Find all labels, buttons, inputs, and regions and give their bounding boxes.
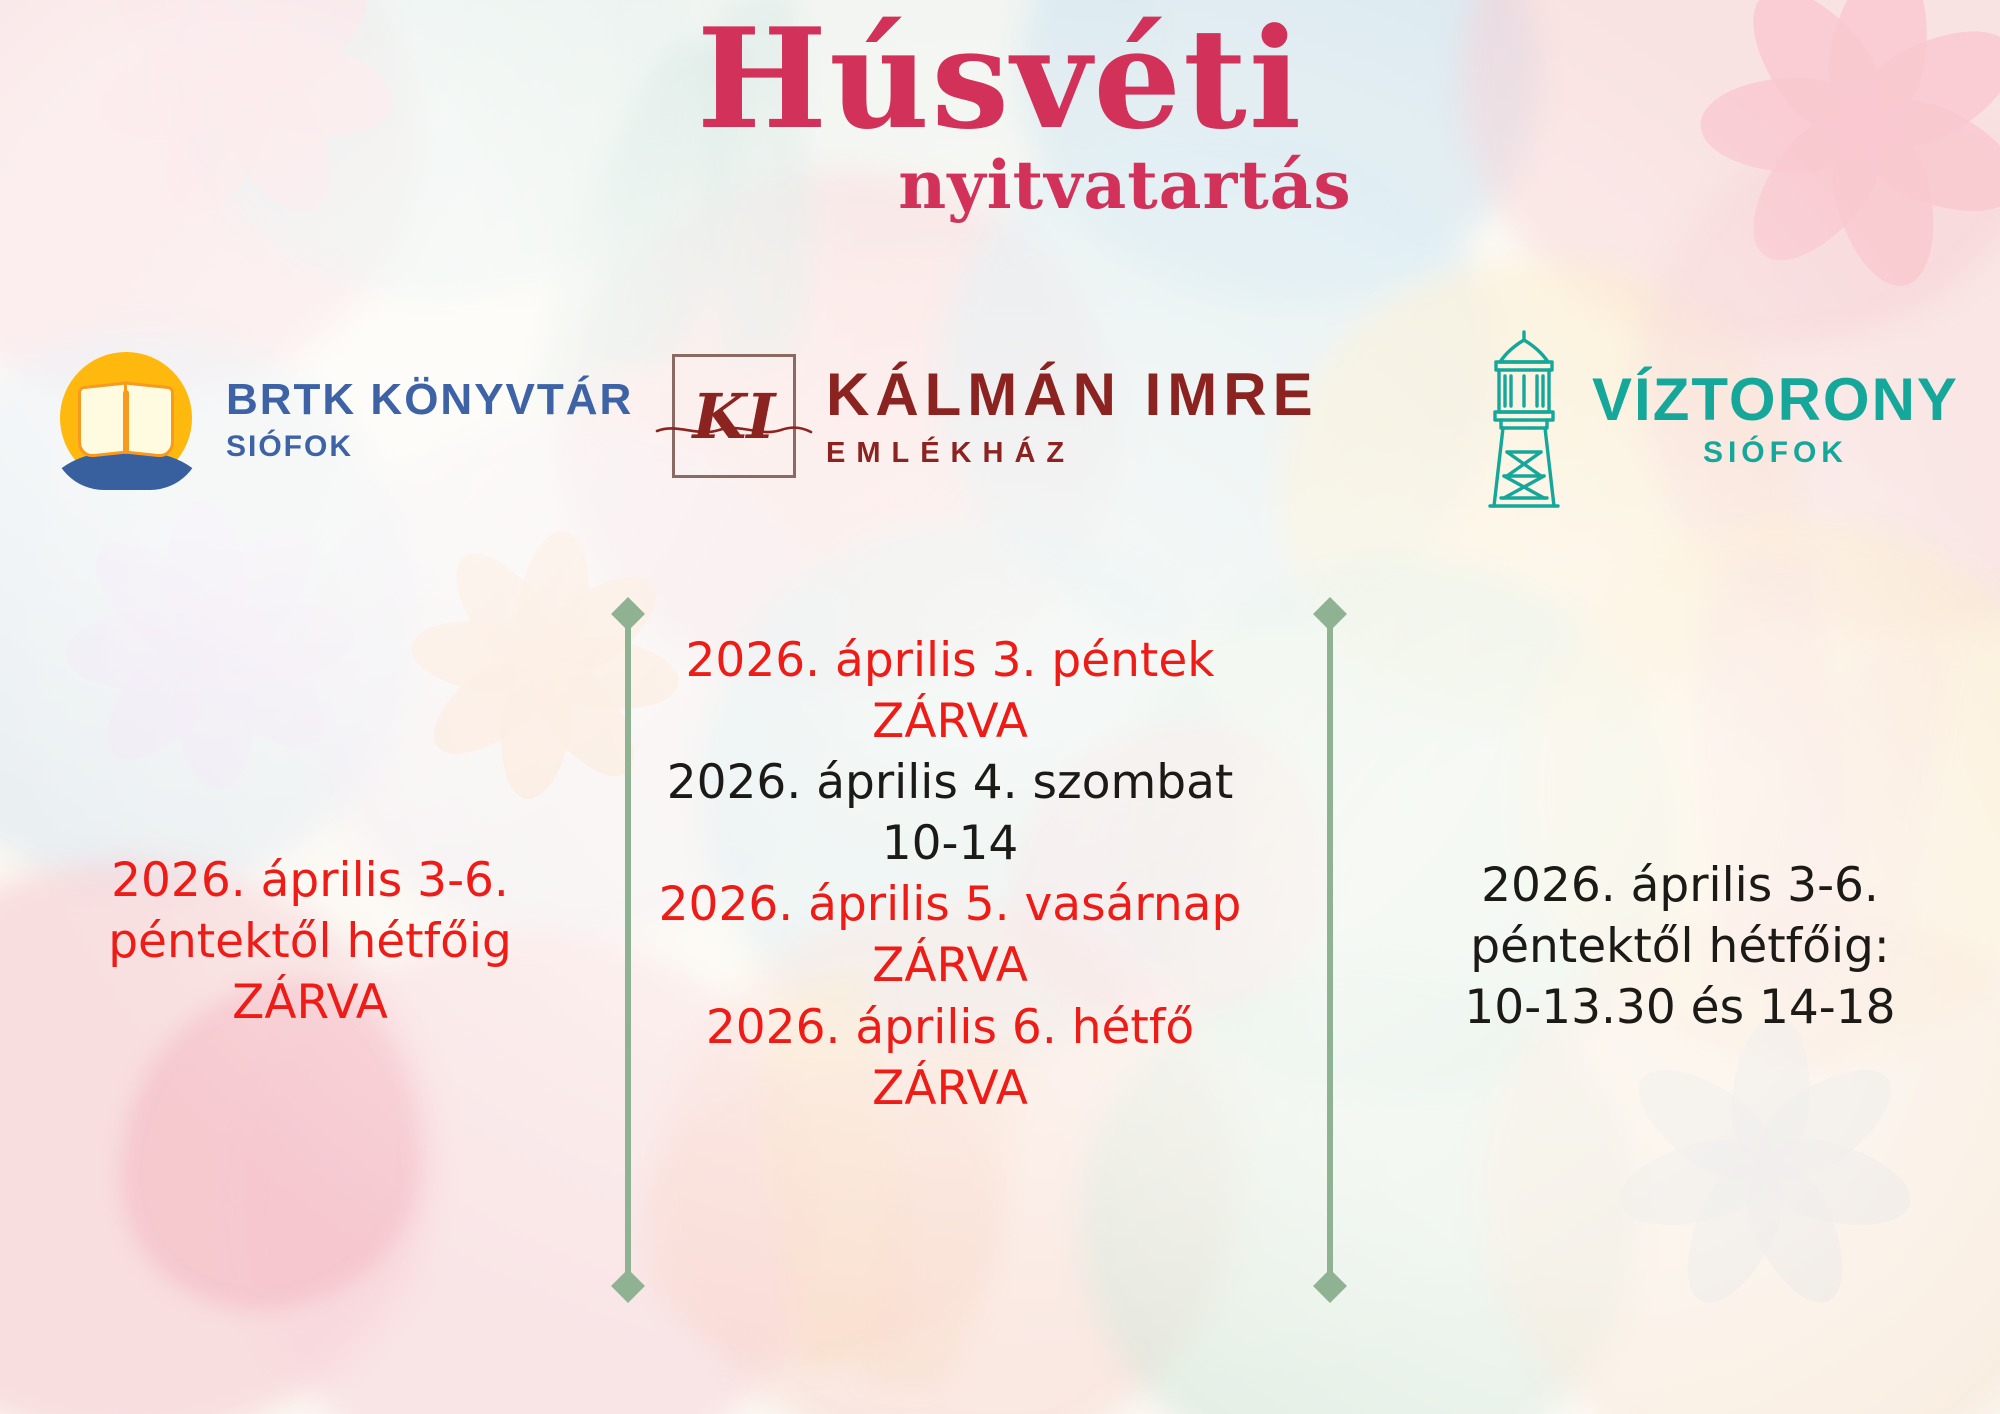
hours-line: 10-13.30 és 14-18 (1400, 977, 1960, 1038)
logo-kalman-imre-emlekhaz: KI KÁLMÁN IMRE EMLÉKHÁZ (672, 354, 1319, 478)
page-title: Húsvéti (0, 10, 2000, 148)
logo-brtk-name: BRTK KÖNYVTÁR (226, 378, 633, 422)
logo-brtk-konyvtar: BRTK KÖNYVTÁR SIÓFOK (52, 346, 633, 494)
hours-line: ZÁRVA (640, 935, 1260, 996)
logo-viztorony-siofok: VÍZTORONY SIÓFOK (1470, 326, 1959, 512)
water-tower-icon (1470, 326, 1578, 512)
logo-kalman-name: KÁLMÁN IMRE (826, 365, 1319, 425)
logo-brtk-city: SIÓFOK (226, 432, 633, 462)
hours-line: 2026. április 6. hétfő (640, 997, 1260, 1058)
logo-viztorony-city: SIÓFOK (1592, 438, 1959, 468)
poster-header: Húsvéti nyitvatartás (0, 10, 2000, 218)
ki-monogram-icon: KI (672, 354, 796, 478)
logo-kalman-monogram: KI (675, 357, 793, 475)
page-subtitle: nyitvatartás (0, 152, 2000, 218)
hours-line: ZÁRVA (40, 972, 580, 1033)
hours-line: 2026. április 5. vasárnap (640, 874, 1260, 935)
hours-line: 2026. április 3-6. (40, 850, 580, 911)
hours-line: 10-14 (640, 813, 1260, 874)
hours-line: 2026. április 3. péntek (640, 630, 1260, 691)
hours-line: 2026. április 3-6. (1400, 855, 1960, 916)
logo-kalman-subtitle: EMLÉKHÁZ (826, 439, 1319, 468)
column-kalman-imre-hours: 2026. április 3. péntek ZÁRVA 2026. ápri… (640, 630, 1260, 1119)
column-viztorony-hours: 2026. április 3-6. péntektől hétfőig: 10… (1400, 855, 1960, 1038)
logo-row: BRTK KÖNYVTÁR SIÓFOK KI KÁLMÁN IMRE EMLÉ… (0, 340, 2000, 510)
hours-line: péntektől hétfőig: (1400, 916, 1960, 977)
hours-line: péntektől hétfőig (40, 911, 580, 972)
hours-line: ZÁRVA (640, 1058, 1260, 1119)
open-book-sun-wave-icon (52, 346, 200, 494)
opening-hours-columns: 2026. április 3-6. péntektől hétfőig ZÁR… (0, 600, 2000, 1320)
hours-line: ZÁRVA (640, 691, 1260, 752)
logo-viztorony-name: VÍZTORONY (1592, 370, 1959, 430)
hours-line: 2026. április 4. szombat (640, 752, 1260, 813)
easter-opening-hours-poster: Húsvéti nyitvatartás BRTK KÖNYVTÁR SIÓFO… (0, 0, 2000, 1414)
column-library-hours: 2026. április 3-6. péntektől hétfőig ZÁR… (40, 850, 580, 1033)
